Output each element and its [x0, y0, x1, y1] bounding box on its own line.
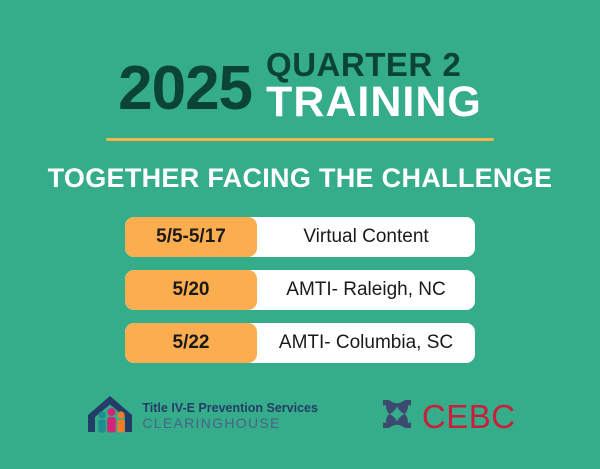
table-row: 5/5-5/17 Virtual Content — [125, 217, 475, 257]
table-row: 5/20 AMTI- Raleigh, NC — [125, 270, 475, 310]
training-text: TRAINING — [266, 82, 482, 123]
cebc-wordmark: CEBC — [422, 400, 516, 433]
cebc-quatrefoil-icon — [380, 397, 414, 436]
cebc-logo: CEBC — [380, 397, 516, 436]
row-label: AMTI- Raleigh, NC — [257, 270, 475, 310]
row-date-badge: 5/5-5/17 — [125, 217, 257, 257]
clearinghouse-logo: Title IV-E Prevention Services CLEARINGH… — [84, 393, 318, 440]
title-block: 2025 QUARTER 2 TRAINING — [0, 48, 600, 123]
clearinghouse-line-2: CLEARINGHOUSE — [142, 416, 318, 431]
year-text: 2025 — [118, 59, 252, 120]
clearinghouse-wordmark: Title IV-E Prevention Services CLEARINGH… — [142, 402, 318, 431]
clearinghouse-line-1: Title IV-E Prevention Services — [142, 402, 318, 416]
table-row: 5/22 AMTI- Columbia, SC — [125, 323, 475, 363]
row-date-badge: 5/20 — [125, 270, 257, 310]
title-right-group: QUARTER 2 TRAINING — [266, 48, 482, 123]
row-label: AMTI- Columbia, SC — [257, 323, 475, 363]
row-label: Virtual Content — [257, 217, 475, 257]
quarter-text: QUARTER 2 — [266, 48, 461, 82]
training-poster: 2025 QUARTER 2 TRAINING TOGETHER FACING … — [0, 0, 600, 469]
footer-logos: Title IV-E Prevention Services CLEARINGH… — [0, 393, 600, 440]
schedule-list: 5/5-5/17 Virtual Content 5/20 AMTI- Rale… — [125, 217, 475, 363]
house-with-family-icon — [84, 393, 136, 440]
row-date-badge: 5/22 — [125, 323, 257, 363]
subtitle-text: TOGETHER FACING THE CHALLENGE — [48, 163, 553, 194]
divider-rule — [106, 138, 494, 141]
